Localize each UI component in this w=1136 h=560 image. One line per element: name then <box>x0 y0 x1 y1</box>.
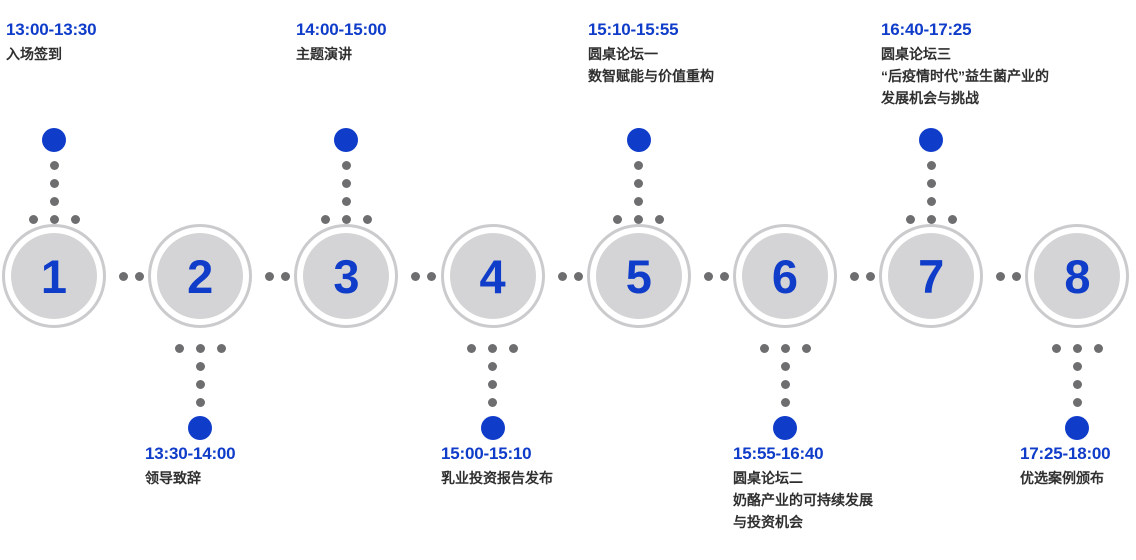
timeline-node-disc: 8 <box>1034 233 1120 319</box>
timeline-connector-8 <box>1047 344 1107 440</box>
connector-dot <box>509 344 518 353</box>
connector-endpoint-dot <box>773 416 797 440</box>
timeline-gap-dots <box>558 272 583 281</box>
timeline-node-number: 6 <box>772 253 798 300</box>
timeline-node-number: 5 <box>626 253 652 300</box>
connector-vertical-dots <box>488 362 497 407</box>
connector-dot <box>488 398 497 407</box>
connector-dot <box>71 215 80 224</box>
timeline-node-7[interactable]: 7 <box>879 224 983 328</box>
timeline-connector-7 <box>901 128 961 224</box>
connector-dot <box>927 215 936 224</box>
connector-dot <box>613 215 622 224</box>
connector-dot <box>927 197 936 206</box>
connector-dot <box>927 179 936 188</box>
connector-dot <box>781 362 790 371</box>
connector-dot <box>50 179 59 188</box>
timeline-gap-dots <box>996 272 1021 281</box>
connector-dot <box>1094 344 1103 353</box>
timeline-label-2: 13:30-14:00领导致辞 <box>145 442 235 489</box>
connector-vertical-dots <box>196 362 205 407</box>
timeline-label-description-line: 入场签到 <box>6 43 96 65</box>
connector-dot <box>488 380 497 389</box>
timeline-node-number: 2 <box>187 253 213 300</box>
connector-dot <box>467 344 476 353</box>
timeline-node-disc: 6 <box>742 233 828 319</box>
connector-dot <box>50 215 59 224</box>
connector-dot <box>781 398 790 407</box>
gap-dot <box>704 272 713 281</box>
connector-horizontal-dots <box>906 215 957 224</box>
timeline-label-description-line: 发展机会与挑战 <box>881 87 1049 109</box>
timeline-gap-dots <box>411 272 436 281</box>
connector-horizontal-dots <box>1052 344 1103 353</box>
connector-dot <box>50 197 59 206</box>
gap-dot <box>1012 272 1021 281</box>
connector-endpoint-dot <box>919 128 943 152</box>
connector-dot <box>196 344 205 353</box>
timeline-gap-dots <box>850 272 875 281</box>
gap-dot <box>574 272 583 281</box>
connector-dot <box>802 344 811 353</box>
timeline-label-time: 16:40-17:25 <box>881 18 1049 41</box>
timeline-label-description: 圆桌论坛二奶酪产业的可持续发展与投资机会 <box>733 467 873 533</box>
connector-dot <box>1052 344 1061 353</box>
timeline-label-description-line: 数智赋能与价值重构 <box>588 65 714 87</box>
connector-dot <box>321 215 330 224</box>
timeline-node-disc: 5 <box>596 233 682 319</box>
timeline-connector-4 <box>463 344 523 440</box>
timeline-label-description-line: “后疫情时代”益生菌产业的 <box>881 65 1049 87</box>
timeline-label-description: 乳业投资报告发布 <box>441 467 553 489</box>
timeline-node-number: 3 <box>333 253 359 300</box>
timeline-label-description-line: 与投资机会 <box>733 511 873 533</box>
connector-horizontal-dots <box>760 344 811 353</box>
connector-dot <box>488 362 497 371</box>
connector-endpoint-dot <box>481 416 505 440</box>
gap-dot <box>281 272 290 281</box>
timeline-node-number: 8 <box>1064 253 1090 300</box>
connector-endpoint-dot <box>334 128 358 152</box>
connector-endpoint-dot <box>627 128 651 152</box>
timeline-label-description: 领导致辞 <box>145 467 235 489</box>
connector-endpoint-dot <box>1065 416 1089 440</box>
timeline-node-disc: 1 <box>11 233 97 319</box>
timeline-label-4: 15:00-15:10乳业投资报告发布 <box>441 442 553 489</box>
connector-dot <box>342 179 351 188</box>
connector-dot <box>634 161 643 170</box>
timeline-node-disc: 7 <box>888 233 974 319</box>
connector-dot <box>217 344 226 353</box>
connector-dot <box>781 380 790 389</box>
timeline-label-description-line: 乳业投资报告发布 <box>441 467 553 489</box>
timeline-connector-2 <box>170 344 230 440</box>
timeline-node-number: 7 <box>918 253 944 300</box>
connector-vertical-dots <box>781 362 790 407</box>
timeline-label-description-line: 优选案例颁布 <box>1020 467 1110 489</box>
timeline-label-description-line: 领导致辞 <box>145 467 235 489</box>
timeline-label-description: 圆桌论坛三“后疫情时代”益生菌产业的发展机会与挑战 <box>881 43 1049 109</box>
connector-dot <box>29 215 38 224</box>
connector-dot <box>927 161 936 170</box>
timeline-connector-1 <box>24 128 84 224</box>
connector-dot <box>196 362 205 371</box>
connector-dot <box>1073 398 1082 407</box>
timeline-label-1: 13:00-13:30入场签到 <box>6 18 96 65</box>
connector-dot <box>1073 362 1082 371</box>
connector-dot <box>948 215 957 224</box>
connector-vertical-dots <box>342 161 351 206</box>
connector-dot <box>342 215 351 224</box>
timeline-label-time: 15:10-15:55 <box>588 18 714 41</box>
gap-dot <box>558 272 567 281</box>
connector-dot <box>50 161 59 170</box>
timeline-node-4[interactable]: 4 <box>441 224 545 328</box>
timeline-label-description-line: 圆桌论坛二 <box>733 467 873 489</box>
timeline-node-6[interactable]: 6 <box>733 224 837 328</box>
timeline-label-6: 15:55-16:40圆桌论坛二奶酪产业的可持续发展与投资机会 <box>733 442 873 533</box>
timeline-node-5[interactable]: 5 <box>587 224 691 328</box>
timeline-label-description: 优选案例颁布 <box>1020 467 1110 489</box>
timeline-label-time: 15:00-15:10 <box>441 442 553 465</box>
connector-vertical-dots <box>634 161 643 206</box>
connector-dot <box>1073 344 1082 353</box>
timeline-node-disc: 3 <box>303 233 389 319</box>
timeline-label-description-line: 圆桌论坛一 <box>588 43 714 65</box>
connector-dot <box>634 197 643 206</box>
timeline-label-description-line: 主题演讲 <box>296 43 386 65</box>
timeline-label-time: 14:00-15:00 <box>296 18 386 41</box>
timeline-connector-6 <box>755 344 815 440</box>
timeline-node-disc: 2 <box>157 233 243 319</box>
connector-dot <box>760 344 769 353</box>
timeline-label-time: 13:00-13:30 <box>6 18 96 41</box>
gap-dot <box>850 272 859 281</box>
timeline-label-8: 17:25-18:00优选案例颁布 <box>1020 442 1110 489</box>
timeline-label-7: 16:40-17:25圆桌论坛三“后疫情时代”益生菌产业的发展机会与挑战 <box>881 18 1049 109</box>
connector-dot <box>1073 380 1082 389</box>
timeline-node-2[interactable]: 2 <box>148 224 252 328</box>
timeline-label-description-line: 奶酪产业的可持续发展 <box>733 489 873 511</box>
timeline-gap-dots <box>265 272 290 281</box>
gap-dot <box>866 272 875 281</box>
timeline-gap-dots <box>119 272 144 281</box>
connector-dot <box>342 161 351 170</box>
gap-dot <box>265 272 274 281</box>
timeline-connector-3 <box>316 128 376 224</box>
timeline-node-number: 4 <box>480 253 506 300</box>
connector-endpoint-dot <box>188 416 212 440</box>
timeline-label-time: 15:55-16:40 <box>733 442 873 465</box>
connector-horizontal-dots <box>175 344 226 353</box>
gap-dot <box>119 272 128 281</box>
timeline-node-1[interactable]: 1 <box>2 224 106 328</box>
timeline-infographic: 13:00-13:30入场签到13:30-14:00领导致辞14:00-15:0… <box>0 0 1136 560</box>
connector-endpoint-dot <box>42 128 66 152</box>
timeline-label-description: 入场签到 <box>6 43 96 65</box>
connector-dot <box>363 215 372 224</box>
timeline-label-3: 14:00-15:00主题演讲 <box>296 18 386 65</box>
connector-dot <box>342 197 351 206</box>
connector-dot <box>196 380 205 389</box>
timeline-node-number: 1 <box>41 253 67 300</box>
timeline-node-8[interactable]: 8 <box>1025 224 1129 328</box>
connector-dot <box>196 398 205 407</box>
gap-dot <box>135 272 144 281</box>
timeline-label-description: 主题演讲 <box>296 43 386 65</box>
gap-dot <box>720 272 729 281</box>
gap-dot <box>996 272 1005 281</box>
connector-dot <box>781 344 790 353</box>
timeline-node-3[interactable]: 3 <box>294 224 398 328</box>
gap-dot <box>427 272 436 281</box>
connector-dot <box>634 215 643 224</box>
gap-dot <box>411 272 420 281</box>
connector-vertical-dots <box>1073 362 1082 407</box>
timeline-connector-5 <box>609 128 669 224</box>
timeline-gap-dots <box>704 272 729 281</box>
connector-dot <box>906 215 915 224</box>
connector-horizontal-dots <box>321 215 372 224</box>
connector-dot <box>634 179 643 188</box>
connector-vertical-dots <box>927 161 936 206</box>
timeline-label-5: 15:10-15:55圆桌论坛一数智赋能与价值重构 <box>588 18 714 87</box>
connector-horizontal-dots <box>29 215 80 224</box>
connector-dot <box>175 344 184 353</box>
timeline-node-disc: 4 <box>450 233 536 319</box>
timeline-label-description: 圆桌论坛一数智赋能与价值重构 <box>588 43 714 87</box>
timeline-label-description-line: 圆桌论坛三 <box>881 43 1049 65</box>
connector-vertical-dots <box>50 161 59 206</box>
connector-dot <box>655 215 664 224</box>
connector-dot <box>488 344 497 353</box>
timeline-label-time: 13:30-14:00 <box>145 442 235 465</box>
connector-horizontal-dots <box>613 215 664 224</box>
timeline-label-time: 17:25-18:00 <box>1020 442 1110 465</box>
connector-horizontal-dots <box>467 344 518 353</box>
